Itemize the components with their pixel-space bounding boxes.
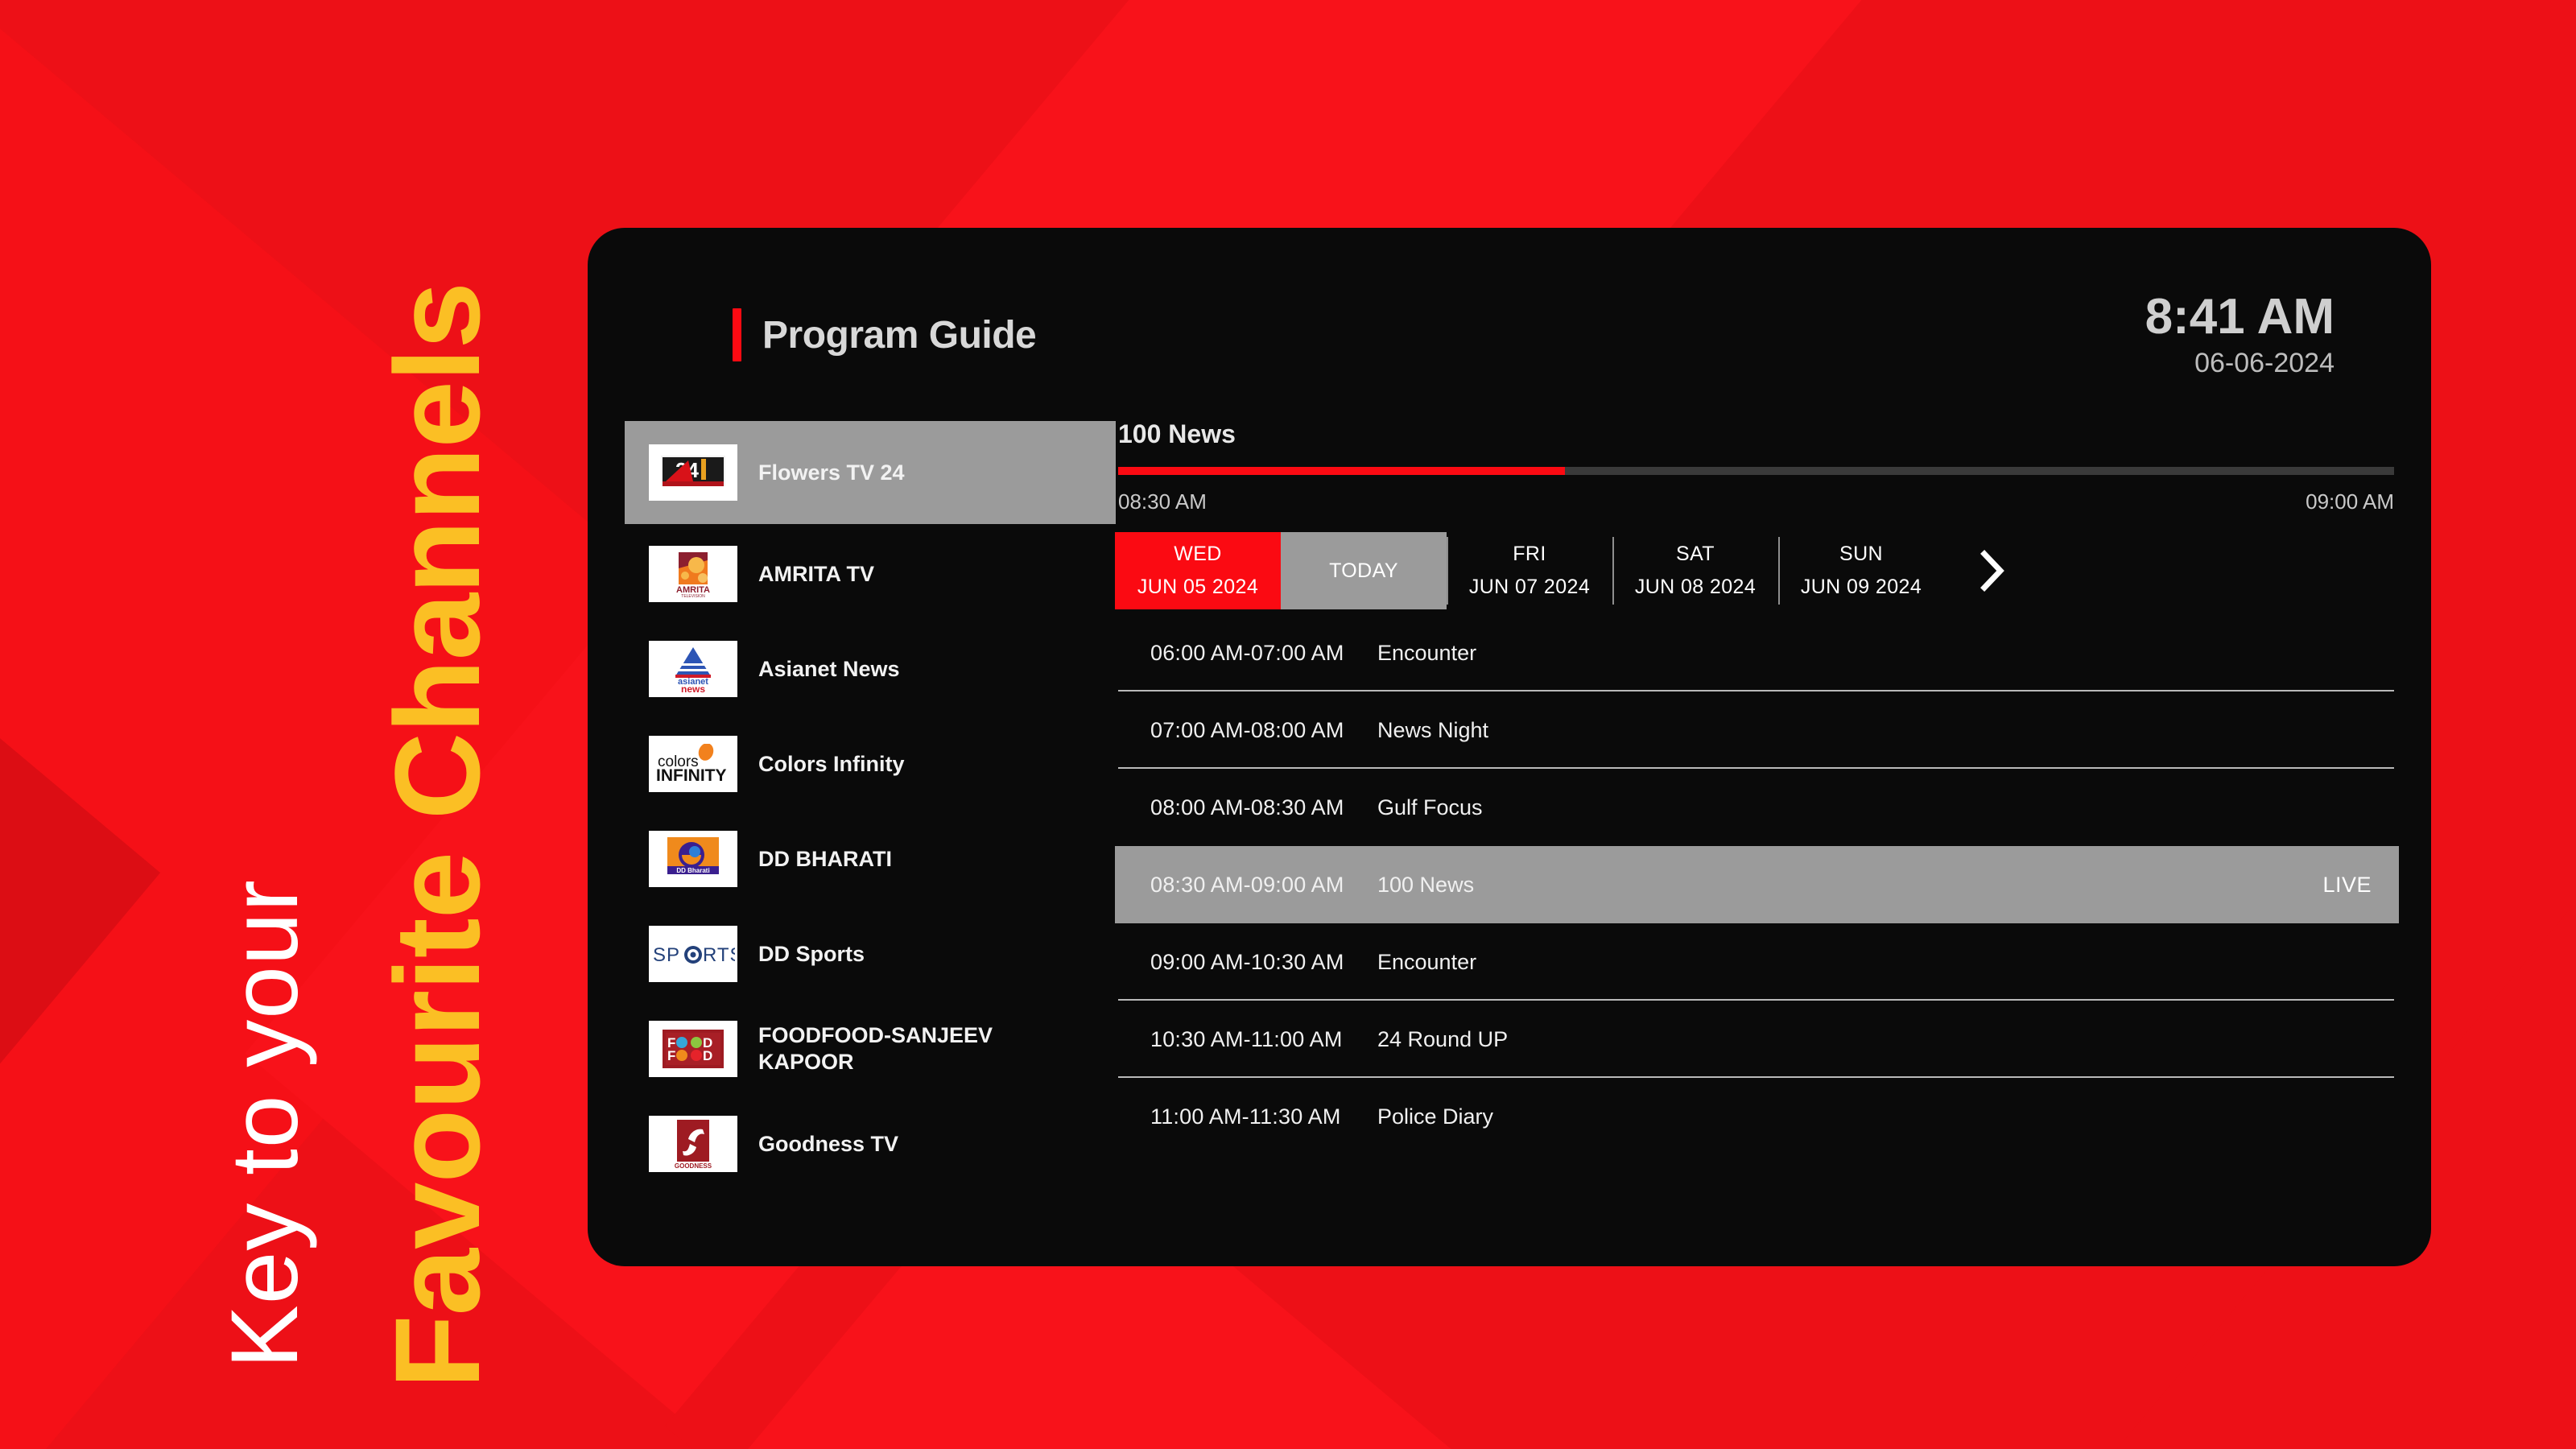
foodfood-logo: F D F D: [649, 1021, 737, 1077]
channel-name: Goodness TV: [758, 1131, 898, 1158]
day-next-button[interactable]: [1944, 532, 2041, 609]
svg-text:F: F: [667, 1048, 675, 1063]
title-accent-bar: [733, 308, 741, 361]
day-tab-date: JUN 07 2024: [1469, 576, 1590, 599]
channel-name: Colors Infinity: [758, 751, 905, 778]
colors-infinity-logo: colors INFINITY: [649, 736, 737, 792]
day-tab-dow: FRI: [1513, 543, 1546, 566]
channel-name: DD BHARATI: [758, 846, 892, 873]
schedule-program: Police Diary: [1364, 1104, 2399, 1129]
flowers-tv-24-logo: 24: [649, 444, 737, 501]
schedule-row[interactable]: 08:00 AM-08:30 AM Gulf Focus: [1115, 769, 2399, 846]
schedule-row-live[interactable]: 08:30 AM-09:00 AM 100 News LIVE: [1115, 846, 2399, 923]
goodness-tv-logo: GOODNESS: [649, 1116, 737, 1172]
dd-sports-logo: SP RTS: [649, 926, 737, 982]
clock-date: 06-06-2024: [2145, 348, 2334, 379]
schedule-row[interactable]: 06:00 AM-07:00 AM Encounter: [1115, 614, 2399, 691]
now-playing-progress[interactable]: [1118, 467, 2394, 475]
channel-name: Flowers TV 24: [758, 460, 905, 486]
schedule-program: 100 News: [1364, 873, 2322, 898]
channel-name: DD Sports: [758, 941, 865, 968]
clock: 8:41 AM 06-06-2024: [2145, 291, 2334, 379]
now-playing-end-time: 09:00 AM: [2306, 489, 2394, 514]
schedule-program: News Night: [1364, 718, 2399, 743]
amrita-tv-logo: AMRITA TELEVISION: [649, 546, 737, 602]
status-badge: LIVE: [2322, 873, 2399, 898]
schedule-row[interactable]: 11:00 AM-11:30 AM Police Diary: [1115, 1078, 2399, 1155]
channel-row-asianet-news[interactable]: asianet news Asianet News: [625, 624, 1116, 714]
svg-text:RTS: RTS: [703, 944, 735, 966]
svg-text:SP: SP: [653, 944, 680, 966]
channel-row-foodfood[interactable]: F D F D FOODFOOD-SANJEEV KAPOOR: [625, 1004, 1116, 1094]
schedule-program: Encounter: [1364, 641, 2399, 666]
day-tab-date: JUN 09 2024: [1801, 576, 1922, 599]
page-title: Program Guide: [733, 308, 1036, 361]
svg-text:news: news: [681, 683, 705, 694]
day-tab-sat[interactable]: SAT JUN 08 2024: [1612, 532, 1778, 609]
now-playing-title: 100 News: [1118, 419, 2399, 449]
schedule-time: 09:00 AM-10:30 AM: [1115, 950, 1364, 975]
day-tab-dow: TODAY: [1329, 559, 1398, 583]
schedule-program: 24 Round UP: [1364, 1027, 2399, 1052]
headline-line-2: Favourite Channels: [377, 283, 497, 1389]
svg-text:D: D: [703, 1048, 712, 1063]
schedule-time: 08:00 AM-08:30 AM: [1115, 795, 1364, 820]
page-title-label: Program Guide: [762, 313, 1036, 357]
schedule-time: 07:00 AM-08:00 AM: [1115, 718, 1364, 743]
svg-text:TELEVISION: TELEVISION: [681, 594, 705, 599]
day-tab-dow: SUN: [1839, 543, 1883, 566]
day-tab-date: JUN 08 2024: [1635, 576, 1756, 599]
channel-row-colors-infinity[interactable]: colors INFINITY Colors Infinity: [625, 719, 1116, 809]
now-playing-times: 08:30 AM 09:00 AM: [1118, 489, 2394, 514]
channel-row-dd-sports[interactable]: SP RTS DD Sports: [625, 909, 1116, 999]
schedule-time: 06:00 AM-07:00 AM: [1115, 641, 1364, 666]
channel-list[interactable]: 24 Flowers TV 24 AMRITA TELEVISION: [625, 421, 1116, 1234]
poster-headline: Key to your Favourite Channels: [0, 0, 419, 1449]
schedule-time: 11:00 AM-11:30 AM: [1115, 1104, 1364, 1129]
schedule-program: Gulf Focus: [1364, 795, 2399, 820]
now-playing-progress-fill: [1118, 467, 1565, 475]
schedule-list[interactable]: 06:00 AM-07:00 AM Encounter 07:00 AM-08:…: [1115, 614, 2399, 1155]
channel-row-dd-bharati[interactable]: DD Bharati DD BHARATI: [625, 814, 1116, 904]
schedule-row[interactable]: 09:00 AM-10:30 AM Encounter: [1115, 923, 2399, 1001]
headline-line-1: Key to your: [217, 879, 312, 1368]
now-playing-start-time: 08:30 AM: [1118, 489, 1207, 514]
channel-row-goodness-tv[interactable]: GOODNESS Goodness TV: [625, 1099, 1116, 1189]
day-tab-date: JUN 05 2024: [1137, 576, 1258, 599]
channel-row-amrita-tv[interactable]: AMRITA TELEVISION AMRITA TV: [625, 529, 1116, 619]
schedule-time: 08:30 AM-09:00 AM: [1115, 873, 1364, 898]
svg-text:INFINITY: INFINITY: [656, 766, 727, 784]
clock-time: 8:41 AM: [2145, 291, 2334, 343]
program-guide-panel: Program Guide 8:41 AM 06-06-2024 24 Flow…: [588, 228, 2431, 1266]
dd-bharati-logo: DD Bharati: [649, 831, 737, 887]
day-tab-sun[interactable]: SUN JUN 09 2024: [1778, 532, 1944, 609]
channel-name: Asianet News: [758, 656, 900, 683]
schedule-row[interactable]: 10:30 AM-11:00 AM 24 Round UP: [1115, 1001, 2399, 1078]
channel-name: AMRITA TV: [758, 561, 874, 588]
day-tabs[interactable]: WED JUN 05 2024 TODAY FRI JUN 07 2024 SA…: [1115, 532, 2399, 609]
channel-name: FOODFOOD-SANJEEV KAPOOR: [758, 1022, 1016, 1075]
asianet-news-logo: asianet news: [649, 641, 737, 697]
channel-row-flowers-tv-24[interactable]: 24 Flowers TV 24: [625, 421, 1116, 524]
day-tab-dow: SAT: [1676, 543, 1715, 566]
day-tab-fri[interactable]: FRI JUN 07 2024: [1447, 532, 1612, 609]
day-tab-wed[interactable]: WED JUN 05 2024: [1115, 532, 1281, 609]
schedule-row[interactable]: 07:00 AM-08:00 AM News Night: [1115, 691, 2399, 769]
day-tab-dow: WED: [1174, 543, 1222, 566]
panel-header: Program Guide 8:41 AM 06-06-2024: [588, 228, 2431, 413]
guide-content: 100 News 08:30 AM 09:00 AM WED JUN 05 20…: [1115, 419, 2399, 1226]
schedule-time: 10:30 AM-11:00 AM: [1115, 1027, 1364, 1052]
schedule-program: Encounter: [1364, 950, 2399, 975]
svg-text:GOODNESS: GOODNESS: [675, 1162, 712, 1170]
chevron-right-icon: [1975, 546, 2010, 596]
day-tab-today[interactable]: TODAY: [1281, 532, 1447, 609]
svg-text:DD Bharati: DD Bharati: [676, 867, 709, 874]
